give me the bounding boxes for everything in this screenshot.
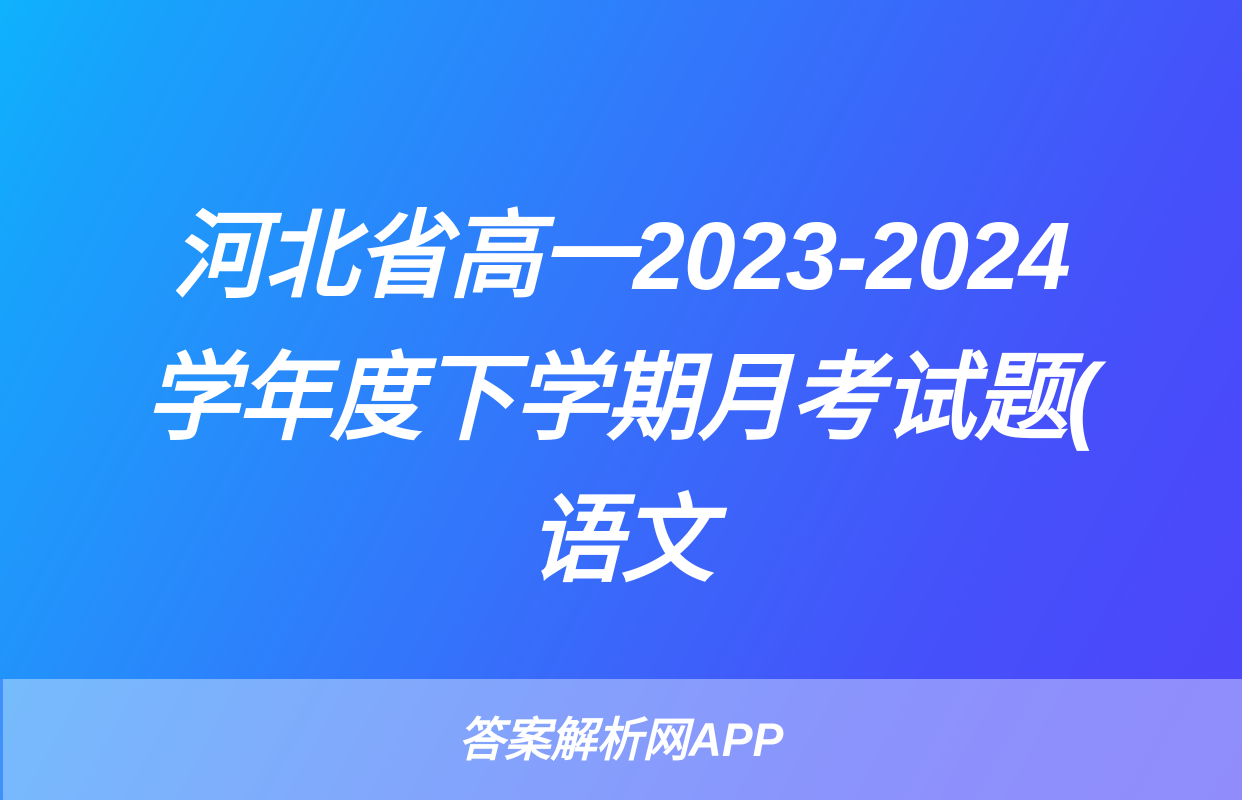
poster-canvas: 河北省高一2023-2024 学年度下学期月考试题( 语文 答案解析网APP	[0, 0, 1242, 800]
title-line-1: 河北省高一2023-2024	[19, 186, 1224, 328]
watermark-brand-label: 答案解析网APP	[458, 716, 783, 763]
watermark-container: 答案解析网APP	[0, 679, 1242, 800]
title-line-3: 语文	[19, 470, 1224, 612]
title-line-2: 学年度下学期月考试题(	[19, 328, 1224, 470]
page-title: 河北省高一2023-2024 学年度下学期月考试题( 语文	[0, 186, 1242, 612]
